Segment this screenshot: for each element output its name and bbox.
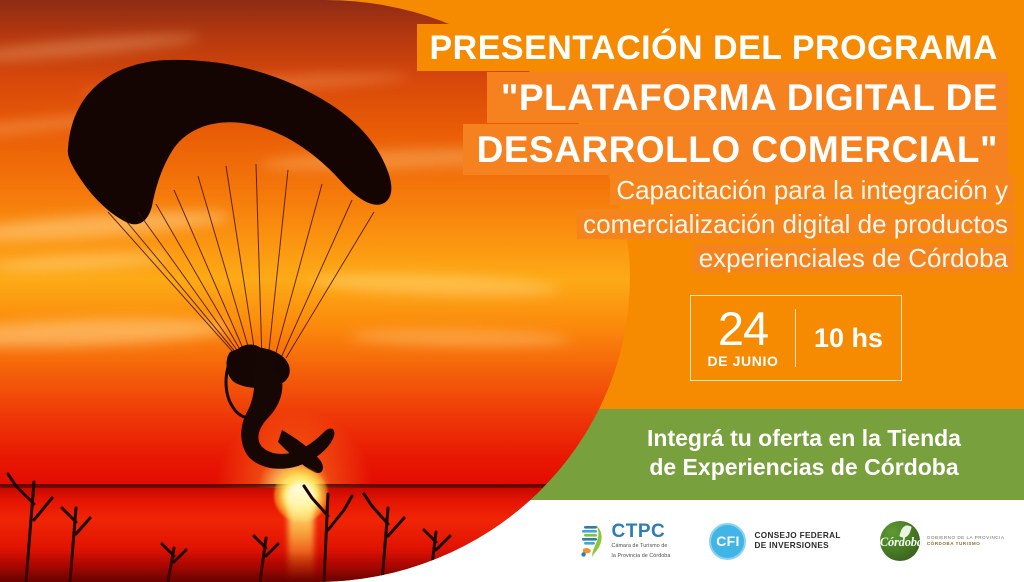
event-date-time-box: 24 DE JUNIO 10 hs <box>690 295 902 381</box>
poster-subtitle: Capacitación para la integración y comer… <box>420 174 1008 275</box>
cordoba-tagline: GOBIERNO DE LA PROVINCIA CÓRDOBA TURISMO <box>927 535 1005 547</box>
title-line-3: DESARROLLO COMERCIAL" <box>463 124 1008 175</box>
cordoba-emblem-icon: Córdoba <box>880 521 920 561</box>
banner-line-2: de Experiencias de Córdoba <box>649 454 958 480</box>
ctpc-emblem-icon <box>580 524 606 558</box>
banner-line-1: Integrá tu oferta en la Tienda <box>647 425 961 451</box>
event-day-number: 24 <box>691 307 795 351</box>
title-line-1: PRESENTACIÓN DEL PROGRAMA <box>417 24 1008 71</box>
event-poster: PRESENTACIÓN DEL PROGRAMA "PLATAFORMA DI… <box>0 0 1024 582</box>
sponsor-logo-strip: CTPC Cámara de Turismo de la Provincia d… <box>560 503 1024 579</box>
ctpc-subtitle-line-1: Cámara de Turismo de <box>612 543 671 550</box>
title-line-2: "PLATAFORMA DIGITAL DE <box>487 72 1008 123</box>
ctpc-wordmark: CTPC Cámara de Turismo de la Provincia d… <box>612 522 671 560</box>
event-time: 10 hs <box>796 323 901 354</box>
poster-title: PRESENTACIÓN DEL PROGRAMA "PLATAFORMA DI… <box>318 24 1008 176</box>
ctpc-subtitle-line-2: la Provincia de Córdoba <box>612 553 671 560</box>
cordoba-wordmark: Córdoba <box>880 535 920 550</box>
cfi-wordmark: CONSEJO FEDERAL DE INVERSIONES <box>754 531 840 552</box>
subtitle-line-3: experienciales de Córdoba <box>699 243 1008 273</box>
subtitle-line-1: Capacitación para la integración y <box>616 175 1008 205</box>
cfi-emblem-icon: CFI <box>709 523 746 560</box>
call-to-action-banner: Integrá tu oferta en la Tienda de Experi… <box>600 424 1008 482</box>
logo-ctpc: CTPC Cámara de Turismo de la Provincia d… <box>580 522 671 560</box>
logo-cordoba-turismo: Córdoba GOBIERNO DE LA PROVINCIA CÓRDOBA… <box>880 521 1005 561</box>
cfi-subtitle-line-1: CONSEJO FEDERAL <box>754 531 840 542</box>
logo-cfi: CFI CONSEJO FEDERAL DE INVERSIONES <box>709 523 840 560</box>
event-date: 24 DE JUNIO <box>691 307 795 369</box>
cfi-subtitle-line-2: DE INVERSIONES <box>754 541 840 552</box>
ctpc-acronym: CTPC <box>612 522 671 541</box>
subtitle-line-2: comercialización digital de productos <box>583 209 1008 239</box>
foreground-shadow <box>0 552 630 582</box>
cordoba-subtitle-line-2: CÓRDOBA TURISMO <box>927 541 1005 547</box>
event-month-label: DE JUNIO <box>691 353 795 369</box>
